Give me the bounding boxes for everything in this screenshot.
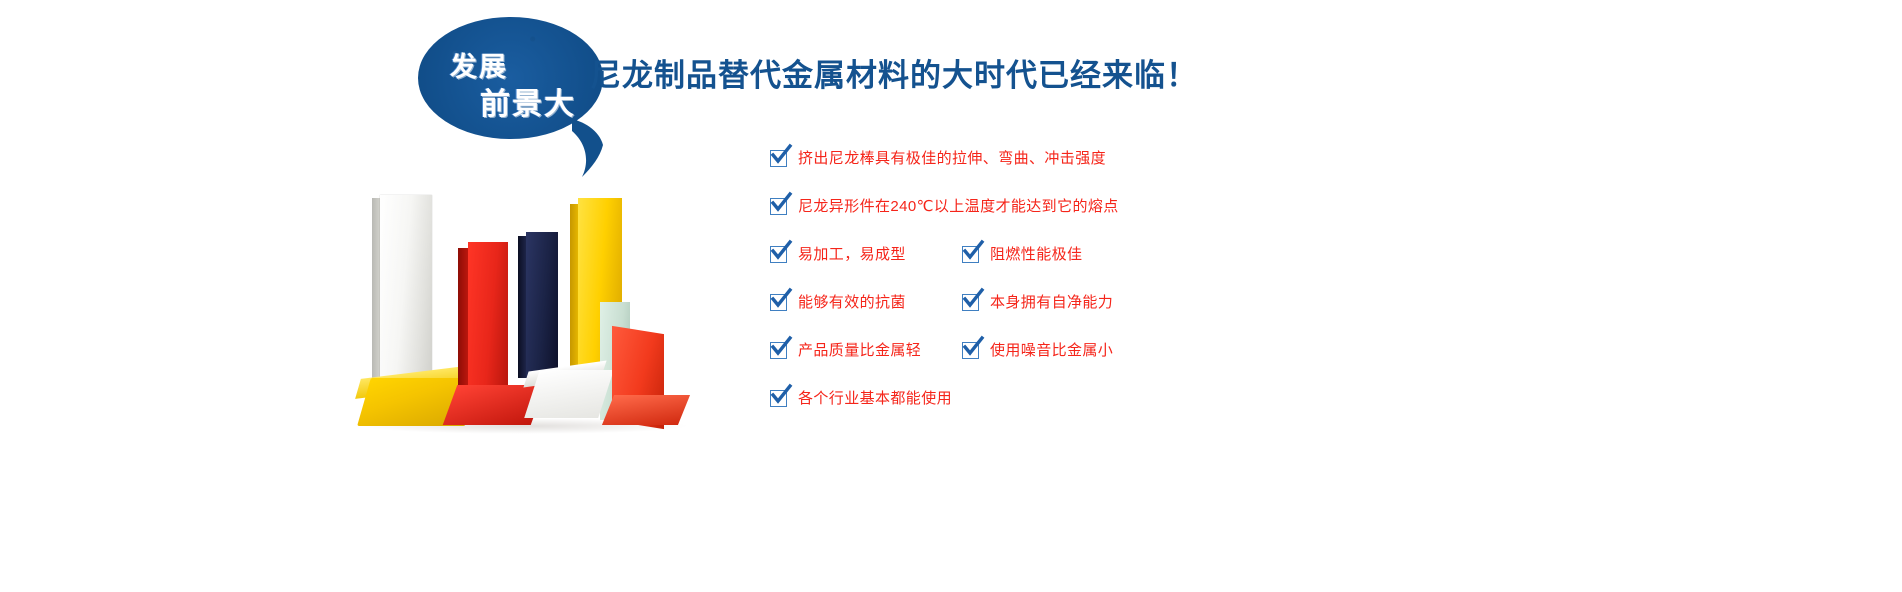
checklist-row: 产品质量比金属轻 使用噪音比金属小 bbox=[770, 342, 1470, 390]
checklist-item-label: 易加工，易成型 bbox=[798, 247, 906, 262]
checklist-item[interactable]: 挤出尼龙棒具有极佳的拉伸、弯曲、冲击强度 bbox=[770, 150, 1106, 167]
speech-bubble: 发展 前景大 bbox=[418, 17, 603, 177]
speech-bubble-text: 发展 前景大 bbox=[418, 17, 603, 139]
checkbox-checked-icon bbox=[962, 294, 979, 311]
checklist-item[interactable]: 本身拥有自净能力 bbox=[962, 294, 1113, 311]
checklist-item-label: 挤出尼龙棒具有极佳的拉伸、弯曲、冲击强度 bbox=[798, 151, 1106, 166]
checklist-item[interactable]: 阻燃性能极佳 bbox=[962, 246, 1082, 263]
feature-checklist: 挤出尼龙棒具有极佳的拉伸、弯曲、冲击强度 尼龙异形件在240℃以上温度才能达到它… bbox=[770, 150, 1470, 438]
checklist-item[interactable]: 产品质量比金属轻 bbox=[770, 342, 921, 359]
headline: 尼龙制品替代金属材料的大时代已经来临！ bbox=[590, 50, 1198, 95]
checklist-item[interactable]: 易加工，易成型 bbox=[770, 246, 906, 263]
checklist-item[interactable]: 能够有效的抗菌 bbox=[770, 294, 906, 311]
checkbox-checked-icon bbox=[962, 246, 979, 263]
white-tall-bar bbox=[380, 195, 432, 400]
bubble-line-2: 前景大 bbox=[480, 79, 576, 123]
checklist-item-label: 本身拥有自净能力 bbox=[990, 295, 1113, 310]
checklist-row: 各个行业基本都能使用 bbox=[770, 390, 1470, 438]
checkbox-checked-icon bbox=[770, 246, 787, 263]
checklist-item[interactable]: 各个行业基本都能使用 bbox=[770, 390, 952, 407]
orange-angle-foot bbox=[602, 395, 690, 425]
promo-banner: 发展 前景大 尼龙制品替代金属材料的大时代已经来临！ bbox=[0, 0, 1902, 592]
checklist-item-label: 能够有效的抗菌 bbox=[798, 295, 906, 310]
checklist-item-label: 使用噪音比金属小 bbox=[990, 343, 1113, 358]
product-photo bbox=[350, 190, 720, 460]
checklist-row: 尼龙异形件在240℃以上温度才能达到它的熔点 bbox=[770, 198, 1470, 246]
white-u-channel bbox=[524, 370, 614, 418]
checklist-item-label: 阻燃性能极佳 bbox=[990, 247, 1082, 262]
checkbox-checked-icon bbox=[770, 294, 787, 311]
red-tall-bar bbox=[468, 242, 508, 407]
navy-tall-bar bbox=[526, 232, 558, 377]
checklist-item[interactable]: 使用噪音比金属小 bbox=[962, 342, 1113, 359]
checkbox-checked-icon bbox=[770, 150, 787, 167]
checkbox-checked-icon bbox=[770, 342, 787, 359]
checklist-item[interactable]: 尼龙异形件在240℃以上温度才能达到它的熔点 bbox=[770, 198, 1119, 215]
checklist-row: 能够有效的抗菌 本身拥有自净能力 bbox=[770, 294, 1470, 342]
checklist-item-label: 各个行业基本都能使用 bbox=[798, 391, 952, 406]
checklist-row: 易加工，易成型 阻燃性能极佳 bbox=[770, 246, 1470, 294]
checkbox-checked-icon bbox=[770, 198, 787, 215]
checklist-row: 挤出尼龙棒具有极佳的拉伸、弯曲、冲击强度 bbox=[770, 150, 1470, 198]
checkbox-checked-icon bbox=[962, 342, 979, 359]
checklist-item-label: 尼龙异形件在240℃以上温度才能达到它的熔点 bbox=[798, 199, 1119, 214]
checkbox-checked-icon bbox=[770, 390, 787, 407]
checklist-item-label: 产品质量比金属轻 bbox=[798, 343, 921, 358]
